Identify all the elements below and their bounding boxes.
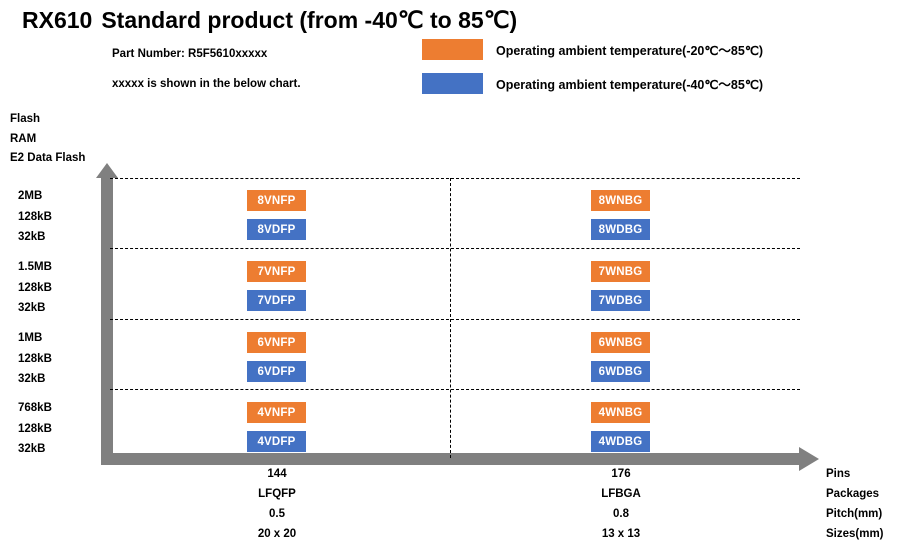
part-box-6VNFP[interactable]: 6VNFP (247, 332, 306, 353)
memory-e2: 32kB (18, 439, 52, 460)
gridline-v-1 (450, 178, 451, 458)
y-axis-shaft (101, 177, 113, 465)
part-box-8WNBG[interactable]: 8WNBG (591, 190, 650, 211)
x-axis-row-captions: Pins Packages Pitch(mm) Sizes(mm) (826, 464, 884, 544)
part-box-6WNBG[interactable]: 6WNBG (591, 332, 650, 353)
part-box-4VDFP[interactable]: 4VDFP (247, 431, 306, 452)
memory-ram: 128kB (18, 278, 52, 299)
part-box-7WDBG[interactable]: 7WDBG (591, 290, 650, 311)
column-pitch: 0.5 (207, 504, 347, 524)
memory-flash: 1.5MB (18, 257, 52, 278)
part-box-label: 6WDBG (599, 366, 643, 378)
memory-ram: 128kB (18, 419, 52, 440)
row-caption-packages: Packages (826, 484, 884, 504)
part-box-label: 4VDFP (257, 436, 295, 448)
memory-e2: 32kB (18, 298, 52, 319)
gridline-h-4 (110, 389, 800, 390)
part-box-label: 8WDBG (599, 224, 643, 236)
slide-canvas: RX610Standard product (from -40℃ to 85℃)… (0, 0, 900, 549)
column-package: LFQFP (207, 484, 347, 504)
memory-ram: 128kB (18, 349, 52, 370)
part-box-6VDFP[interactable]: 6VDFP (247, 361, 306, 382)
column-size: 20 x 20 (207, 524, 347, 544)
column-size: 13 x 13 (551, 524, 691, 544)
row-caption-pitch: Pitch(mm) (826, 504, 884, 524)
memory-flash: 768kB (18, 398, 52, 419)
part-box-label: 4WNBG (599, 407, 643, 419)
part-box-7VDFP[interactable]: 7VDFP (247, 290, 306, 311)
part-box-label: 7WNBG (599, 266, 643, 278)
memory-group-row-4: 768kB 128kB 32kB (18, 398, 52, 460)
part-box-label: 4VNFP (257, 407, 295, 419)
column-pitch: 0.8 (551, 504, 691, 524)
part-box-8VNFP[interactable]: 8VNFP (247, 190, 306, 211)
part-box-label: 7VDFP (257, 295, 295, 307)
y-axis-arrow (96, 163, 118, 465)
part-box-8VDFP[interactable]: 8VDFP (247, 219, 306, 240)
part-box-label: 6VDFP (257, 366, 295, 378)
row-caption-sizes: Sizes(mm) (826, 524, 884, 544)
part-box-4WDBG[interactable]: 4WDBG (591, 431, 650, 452)
memory-ram: 128kB (18, 207, 52, 228)
part-box-7VNFP[interactable]: 7VNFP (247, 261, 306, 282)
part-box-label: 7VNFP (257, 266, 295, 278)
x-axis-arrowhead-icon (799, 447, 819, 471)
memory-group-row-2: 1.5MB 128kB 32kB (18, 257, 52, 319)
column-caption-176: 176 LFBGA 0.8 13 x 13 (551, 464, 691, 544)
memory-group-row-3: 1MB 128kB 32kB (18, 328, 52, 390)
part-box-4WNBG[interactable]: 4WNBG (591, 402, 650, 423)
memory-e2: 32kB (18, 227, 52, 248)
part-box-label: 6VNFP (257, 337, 295, 349)
x-axis-shaft (101, 453, 801, 465)
column-package: LFBGA (551, 484, 691, 504)
gridline-h-1 (110, 178, 800, 179)
part-box-label: 4WDBG (599, 436, 643, 448)
memory-e2: 32kB (18, 369, 52, 390)
gridline-h-2 (110, 248, 800, 249)
part-box-label: 8WNBG (599, 195, 643, 207)
memory-group-row-1: 2MB 128kB 32kB (18, 186, 52, 248)
memory-flash: 1MB (18, 328, 52, 349)
part-box-label: 7WDBG (599, 295, 643, 307)
part-box-label: 8VNFP (257, 195, 295, 207)
chart-plot-area: 2MB 128kB 32kB 1.5MB 128kB 32kB 1MB 128k… (0, 0, 900, 549)
gridline-h-3 (110, 319, 800, 320)
column-caption-144: 144 LFQFP 0.5 20 x 20 (207, 464, 347, 544)
column-pins: 144 (207, 464, 347, 484)
part-box-7WNBG[interactable]: 7WNBG (591, 261, 650, 282)
row-caption-pins: Pins (826, 464, 884, 484)
y-axis-arrowhead-icon (96, 163, 118, 178)
column-pins: 176 (551, 464, 691, 484)
memory-flash: 2MB (18, 186, 52, 207)
part-box-label: 6WNBG (599, 337, 643, 349)
part-box-8WDBG[interactable]: 8WDBG (591, 219, 650, 240)
part-box-label: 8VDFP (257, 224, 295, 236)
part-box-6WDBG[interactable]: 6WDBG (591, 361, 650, 382)
part-box-4VNFP[interactable]: 4VNFP (247, 402, 306, 423)
